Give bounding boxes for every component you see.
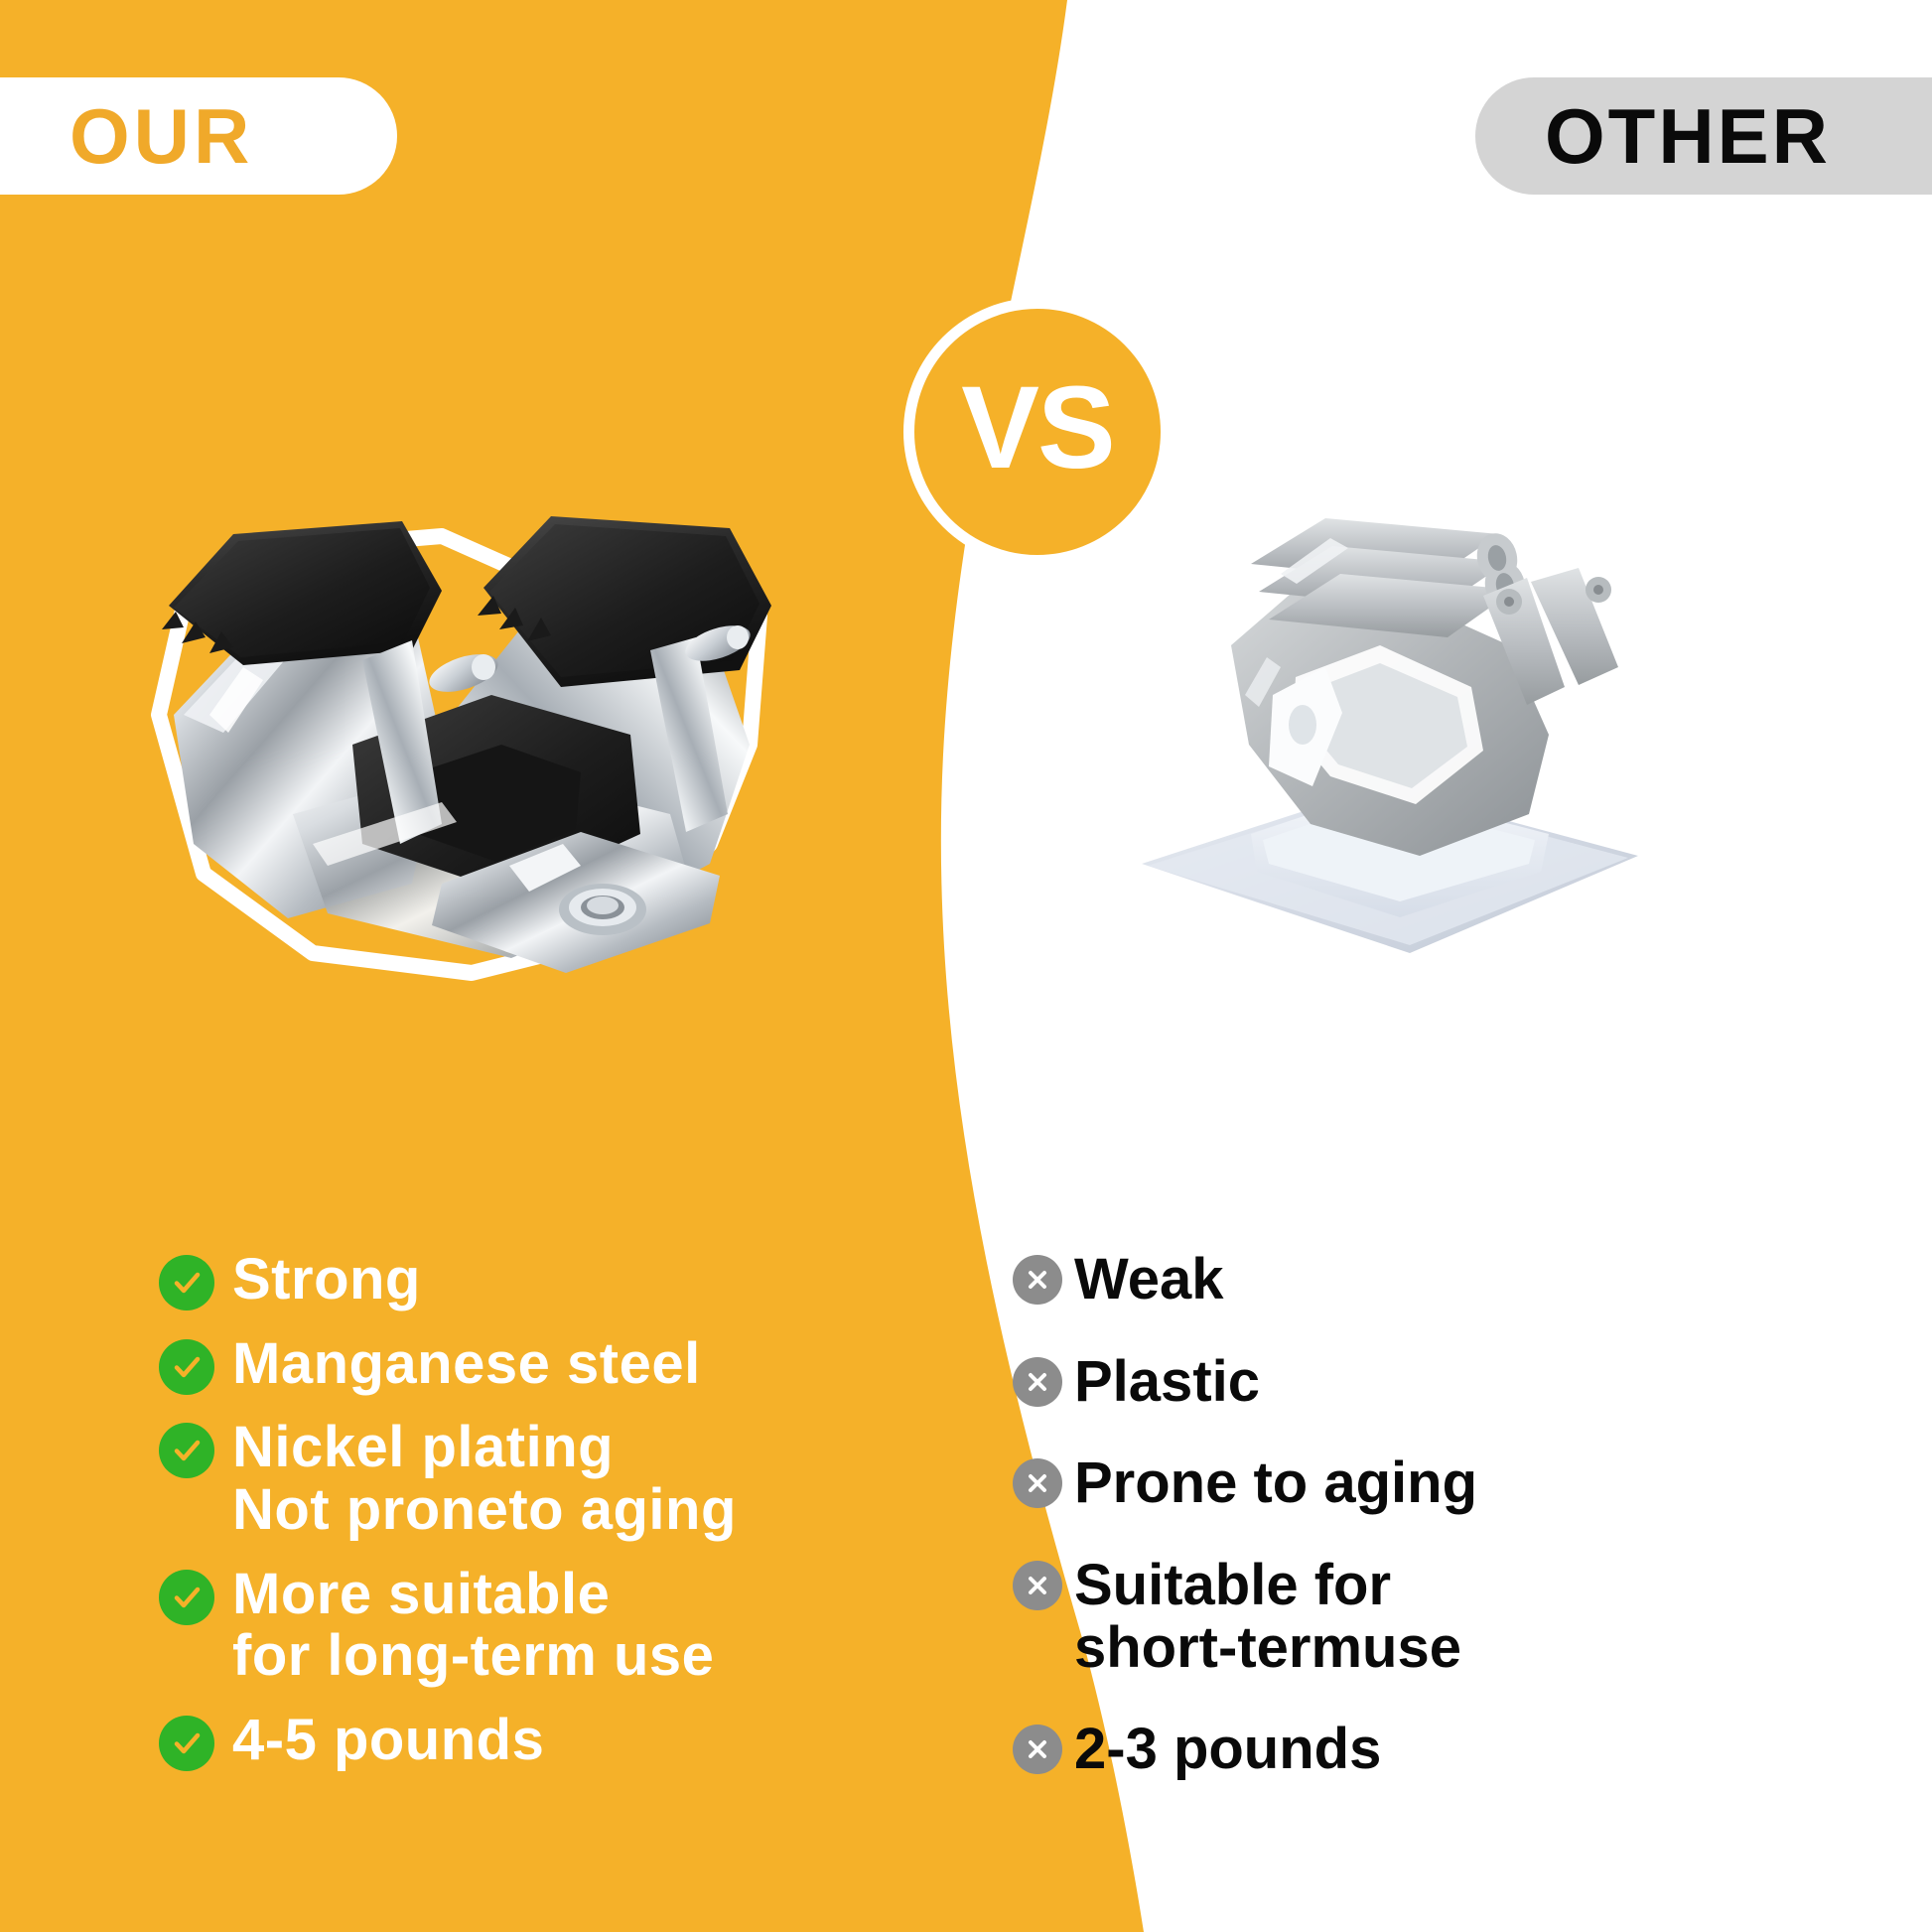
check-circle-icon [159, 1339, 214, 1395]
feature-label: 2-3 pounds [1074, 1719, 1381, 1781]
feature-label: More suitable for long-term use [232, 1564, 714, 1688]
comparison-infographic: OUR OTHER VS [0, 0, 1932, 1932]
our-feature-list: Strong Manganese steel Nickel plating No… [159, 1249, 834, 1793]
feature-row: Plastic [1013, 1351, 1767, 1414]
feature-label: Suitable for short-termuse [1074, 1555, 1461, 1679]
cross-circle-icon [1013, 1255, 1062, 1305]
feature-row: Nickel plating Not proneto aging [159, 1417, 834, 1541]
cross-circle-icon [1013, 1561, 1062, 1610]
cross-circle-icon [1013, 1458, 1062, 1508]
feature-row: More suitable for long-term use [159, 1564, 834, 1688]
feature-row: Prone to aging [1013, 1452, 1767, 1515]
feature-label: Nickel plating Not proneto aging [232, 1417, 737, 1541]
cross-circle-icon [1013, 1725, 1062, 1774]
feature-label: 4-5 pounds [232, 1710, 544, 1772]
our-product-image [114, 417, 809, 1013]
feature-label: Manganese steel [232, 1333, 701, 1396]
feature-row: 2-3 pounds [1013, 1719, 1767, 1781]
other-badge: OTHER [1475, 77, 1932, 195]
other-product-image [1082, 397, 1698, 1013]
feature-label: Prone to aging [1074, 1452, 1477, 1515]
feature-label: Plastic [1074, 1351, 1260, 1414]
check-circle-icon [159, 1570, 214, 1625]
feature-row: Suitable for short-termuse [1013, 1555, 1767, 1679]
feature-row: Weak [1013, 1249, 1767, 1311]
feature-label: Weak [1074, 1249, 1223, 1311]
other-feature-list: Weak Plastic Prone to aging [1013, 1249, 1767, 1821]
feature-row: 4-5 pounds [159, 1710, 834, 1772]
cross-circle-icon [1013, 1357, 1062, 1407]
our-badge: OUR [0, 77, 397, 195]
check-circle-icon [159, 1255, 214, 1311]
feature-row: Manganese steel [159, 1333, 834, 1396]
check-circle-icon [159, 1423, 214, 1478]
feature-row: Strong [159, 1249, 834, 1311]
other-badge-label: OTHER [1545, 97, 1831, 175]
feature-label: Strong [232, 1249, 421, 1311]
check-circle-icon [159, 1716, 214, 1771]
our-badge-label: OUR [69, 97, 253, 175]
